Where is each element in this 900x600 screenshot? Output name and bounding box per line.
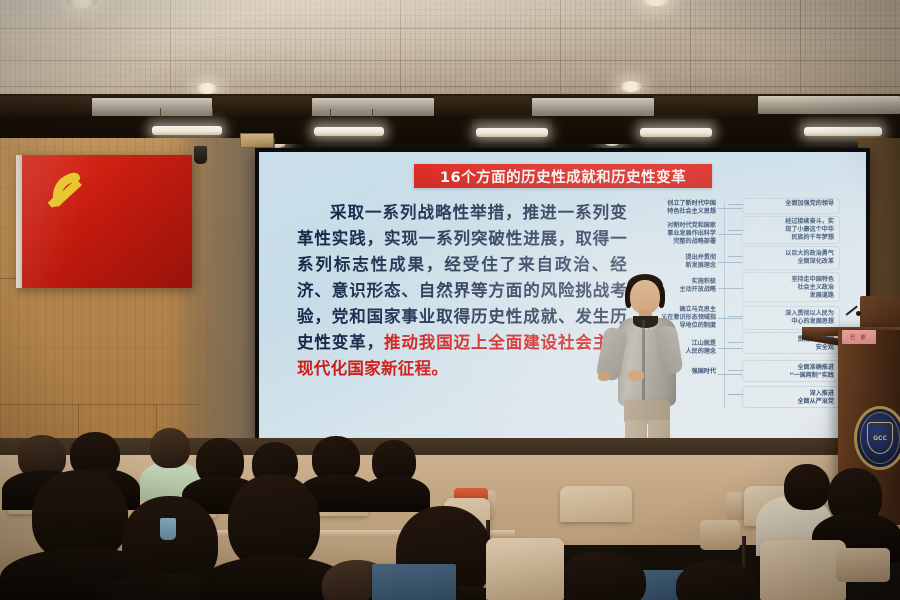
seat-armrest[interactable] [700, 520, 740, 550]
slide-title-banner: 16个方面的历史性成就和历史性变革 [414, 164, 712, 188]
seat-armrest[interactable] [836, 548, 890, 582]
audience-head [150, 428, 190, 468]
beam-segment-dark [0, 96, 92, 116]
mindmap-node-box [742, 216, 840, 244]
speaker-right-hand [598, 372, 610, 381]
mindmap-node-box [742, 246, 840, 270]
wall-speaker-icon [194, 146, 207, 164]
podium-nameplate: 巴 郡 [842, 330, 876, 344]
mindmap-connector [718, 348, 742, 349]
beam-segment-metal [92, 98, 212, 116]
seat-back-foreground[interactable] [486, 538, 564, 600]
mindmap-connector [718, 374, 742, 375]
podium-nameplate-text: 巴 郡 [850, 334, 868, 341]
fluorescent-tube-icon [804, 127, 882, 136]
mindmap-connector [718, 234, 742, 235]
mindmap-node-box [742, 386, 840, 408]
beam-segment-dark [212, 96, 312, 116]
downlight-icon [196, 83, 218, 94]
mindmap-spine [724, 202, 725, 408]
ceiling-panels [0, 0, 900, 100]
audience-head-foreground [556, 552, 646, 600]
fluorescent-tube-icon [314, 127, 384, 136]
light-hanger [330, 109, 331, 118]
audience-head [784, 464, 830, 510]
drink-cup[interactable] [160, 518, 176, 540]
laptop-screen[interactable] [372, 564, 456, 600]
beam-segment-dark [654, 96, 758, 116]
fluorescent-tube-icon [640, 128, 712, 137]
mindmap-connector [718, 318, 742, 319]
wall-switch-plate[interactable] [240, 133, 274, 148]
flag-sheen [16, 155, 192, 288]
projection-screen: 16个方面的历史性成就和历史性变革 采取一系列战略性举措，推进一系列变革性实践，… [259, 152, 866, 440]
fluorescent-tube-icon [476, 128, 548, 137]
beam-segment-dark [434, 96, 532, 116]
fluorescent-tube-icon [152, 126, 222, 135]
mindmap-item: 提出并贯彻 新发展理念 [624, 254, 716, 270]
beam-segment-metal [758, 96, 900, 114]
crest-ring [860, 412, 900, 464]
light-hanger [160, 108, 161, 117]
mindmap-connector [718, 208, 742, 209]
slide-body-plain: 采取一系列战略性举措，推进一系列变革性实践，实现一系列突破性进展，取得一系列标志… [297, 203, 627, 352]
light-hanger [372, 109, 373, 118]
slide-title-text: 16个方面的历史性成就和历史性变革 [440, 166, 686, 187]
downlight-icon [620, 81, 642, 92]
slide-body-paragraph: 采取一系列战略性举措，推进一系列变革性实践，实现一系列突破性进展，取得一系列标志… [297, 200, 627, 382]
seat-back-foreground[interactable] [760, 540, 846, 600]
mindmap-node-box [742, 360, 840, 382]
speaker-jacket-zipper [642, 320, 645, 402]
mindmap-item: 对新时代党和国家 事业发展作出科学 完整的战略部署 [624, 222, 716, 247]
mindmap-connector [718, 262, 742, 263]
light-hanger [212, 108, 213, 117]
mindmap-item: 创立了新时代中国 特色社会主义思想 [624, 200, 716, 216]
college-crest-emblem: GCC [854, 406, 900, 470]
ceiling-light-falloff [0, 0, 900, 100]
mindmap-node-box [742, 272, 840, 302]
cpc-party-flag [16, 155, 192, 288]
podium-monitor [860, 296, 900, 329]
mindmap-node-box [742, 198, 840, 214]
speaker-left-hand [628, 370, 644, 381]
beam-segment-metal [532, 98, 654, 116]
seat-back[interactable] [560, 486, 632, 522]
audience-shoulders [360, 476, 430, 512]
speaker-necklace [634, 318, 657, 330]
speaker-face [630, 280, 660, 314]
microphone-icon[interactable] [856, 311, 861, 316]
lecture-hall-photo: 16个方面的历史性成就和历史性变革 采取一系列战略性举措，推进一系列变革性实践，… [0, 0, 900, 600]
